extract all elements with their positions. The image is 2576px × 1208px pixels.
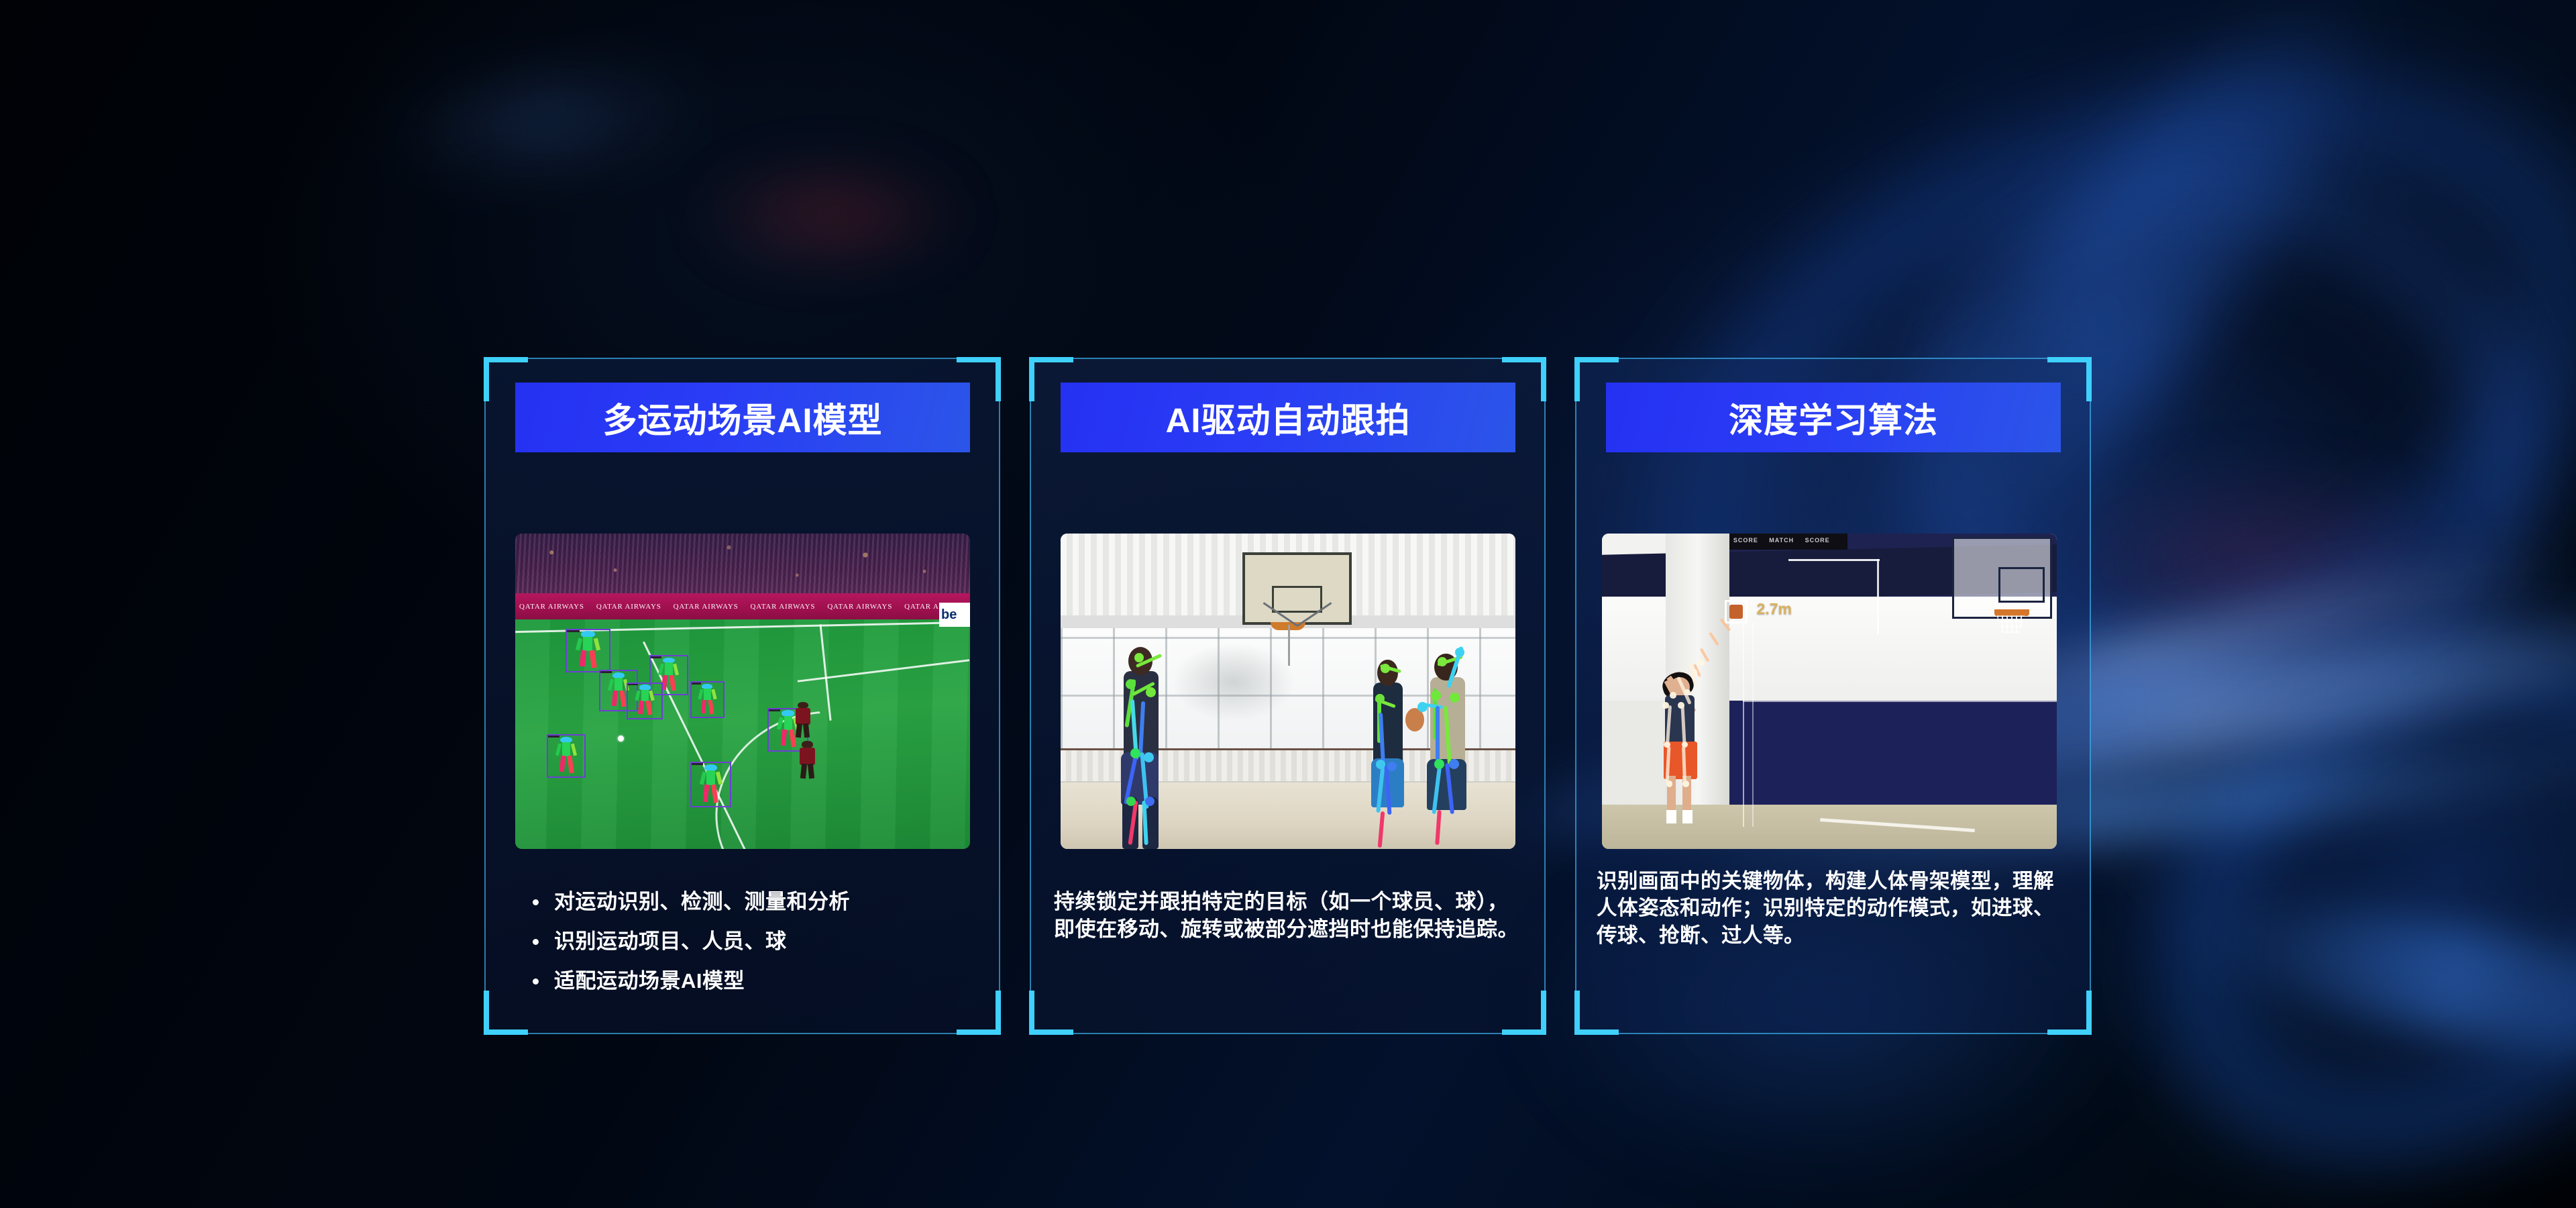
sponsor-board: QATAR AIRWAYS QATAR AIRWAYS QATAR AIRWAY… (515, 593, 970, 620)
card-title-banner: 深度学习算法 (1606, 383, 2061, 452)
card-title-banner: 多运动场景AI模型 (515, 383, 970, 452)
detected-player-box (566, 629, 611, 672)
scoreboard-label: SCORE (1805, 537, 1830, 544)
list-item: 对运动识别、检测、测量和分析 (525, 888, 977, 915)
sponsor-text: QATAR AIRWAYS (827, 603, 892, 611)
card-body-paragraph: 识别画面中的关键物体，构建人体骨架模型，理解人体姿态和动作；识别特定的动作模式，… (1597, 868, 2068, 949)
betting-sponsor-logo: be (939, 603, 970, 627)
scoreboard-label: MATCH (1769, 537, 1794, 544)
measurement-vertical-line (1743, 619, 1744, 827)
center-circle-arc (700, 693, 953, 849)
soccer-pitch (515, 619, 970, 849)
hoop-support-pole (1288, 625, 1290, 666)
soccer-detection-frame: QATAR AIRWAYS QATAR AIRWAYS QATAR AIRWAY… (515, 534, 970, 849)
pose-skeleton-player-a (1111, 647, 1183, 849)
basketball-backboard (1242, 552, 1352, 625)
gym-shot-scene: SCORE MATCH SCORE 2.7m (1602, 534, 2057, 849)
detected-player-box (627, 683, 663, 719)
card-body-paragraph: 持续锁定并跟拍特定的目标（如一个球员、球），即使在移动、旋转或被部分遮挡时也能保… (1054, 888, 1523, 943)
sponsor-text: QATAR AIRWAYS (519, 603, 584, 611)
measurement-horizontal-line (1743, 701, 2057, 702)
sponsor-text: QATAR AIRWAYS (674, 603, 739, 611)
list-item: 适配运动场景AI模型 (525, 967, 977, 995)
tracking-guide-vertical (1877, 559, 1879, 635)
pose-skeleton-player-c (1415, 654, 1488, 849)
gym-navy-lower-pad (1729, 701, 2057, 805)
feature-card-sports-ai-model[interactable]: 多运动场景AI模型 QATAR AIRWAYS QATAR AIRWAYS QA… (484, 358, 1000, 1034)
feature-card-deep-learning[interactable]: 深度学习算法 SCORE MATCH SCORE (1575, 358, 2091, 1034)
scoreboard: SCORE MATCH SCORE (1729, 534, 1847, 550)
scoreboard-label: SCORE (1733, 537, 1758, 544)
stadium-crowd (515, 534, 970, 597)
soccer-ball (618, 736, 624, 742)
card-media-shot-measurement: SCORE MATCH SCORE 2.7m (1602, 534, 2057, 849)
card-media-soccer: QATAR AIRWAYS QATAR AIRWAYS QATAR AIRWAY… (515, 534, 970, 849)
opposition-player (795, 741, 820, 778)
basketball-backboard (1952, 537, 2052, 619)
bullet-list: 对运动识别、检测、测量和分析 识别运动项目、人员、球 适配运动场景AI模型 (525, 888, 977, 995)
penalty-box-line (820, 624, 832, 720)
opposition-player (790, 702, 815, 736)
paragraph-text: 识别画面中的关键物体，构建人体骨架模型，理解人体姿态和动作；识别特定的动作模式，… (1597, 868, 2068, 949)
feature-card-grid: 多运动场景AI模型 QATAR AIRWAYS QATAR AIRWAYS QA… (0, 0, 2576, 1208)
pose-skeleton-shooter (1652, 666, 1711, 829)
detected-player-box (690, 681, 724, 718)
measurement-label: 2.7m (1757, 600, 1792, 618)
card-body-bullets: 对运动识别、检测、测量和分析 识别运动项目、人员、球 适配运动场景AI模型 (525, 888, 977, 1007)
list-item: 识别运动项目、人员、球 (525, 927, 977, 955)
gym-scene (1061, 534, 1515, 849)
detected-player-box (547, 734, 586, 778)
paragraph-text: 持续锁定并跟拍特定的目标（如一个球员、球），即使在移动、旋转或被部分遮挡时也能保… (1054, 888, 1523, 943)
window-tree-shadow (1170, 641, 1297, 723)
sponsor-text: QATAR AIRWAYS (596, 603, 661, 611)
card-title-banner: AI驱动自动跟拍 (1061, 383, 1515, 452)
detected-player-box (690, 762, 731, 807)
card-media-basketball-pose (1061, 534, 1515, 849)
ball-detection-box (1725, 600, 1748, 623)
sponsor-text: QATAR AIRWAYS (750, 603, 815, 611)
tracking-guide-horizontal (1788, 559, 1880, 561)
basketball-rim (1994, 609, 2029, 616)
feature-card-ai-auto-tracking[interactable]: AI驱动自动跟拍 (1030, 358, 1546, 1034)
measurement-vertical-line-2 (1752, 622, 1754, 827)
